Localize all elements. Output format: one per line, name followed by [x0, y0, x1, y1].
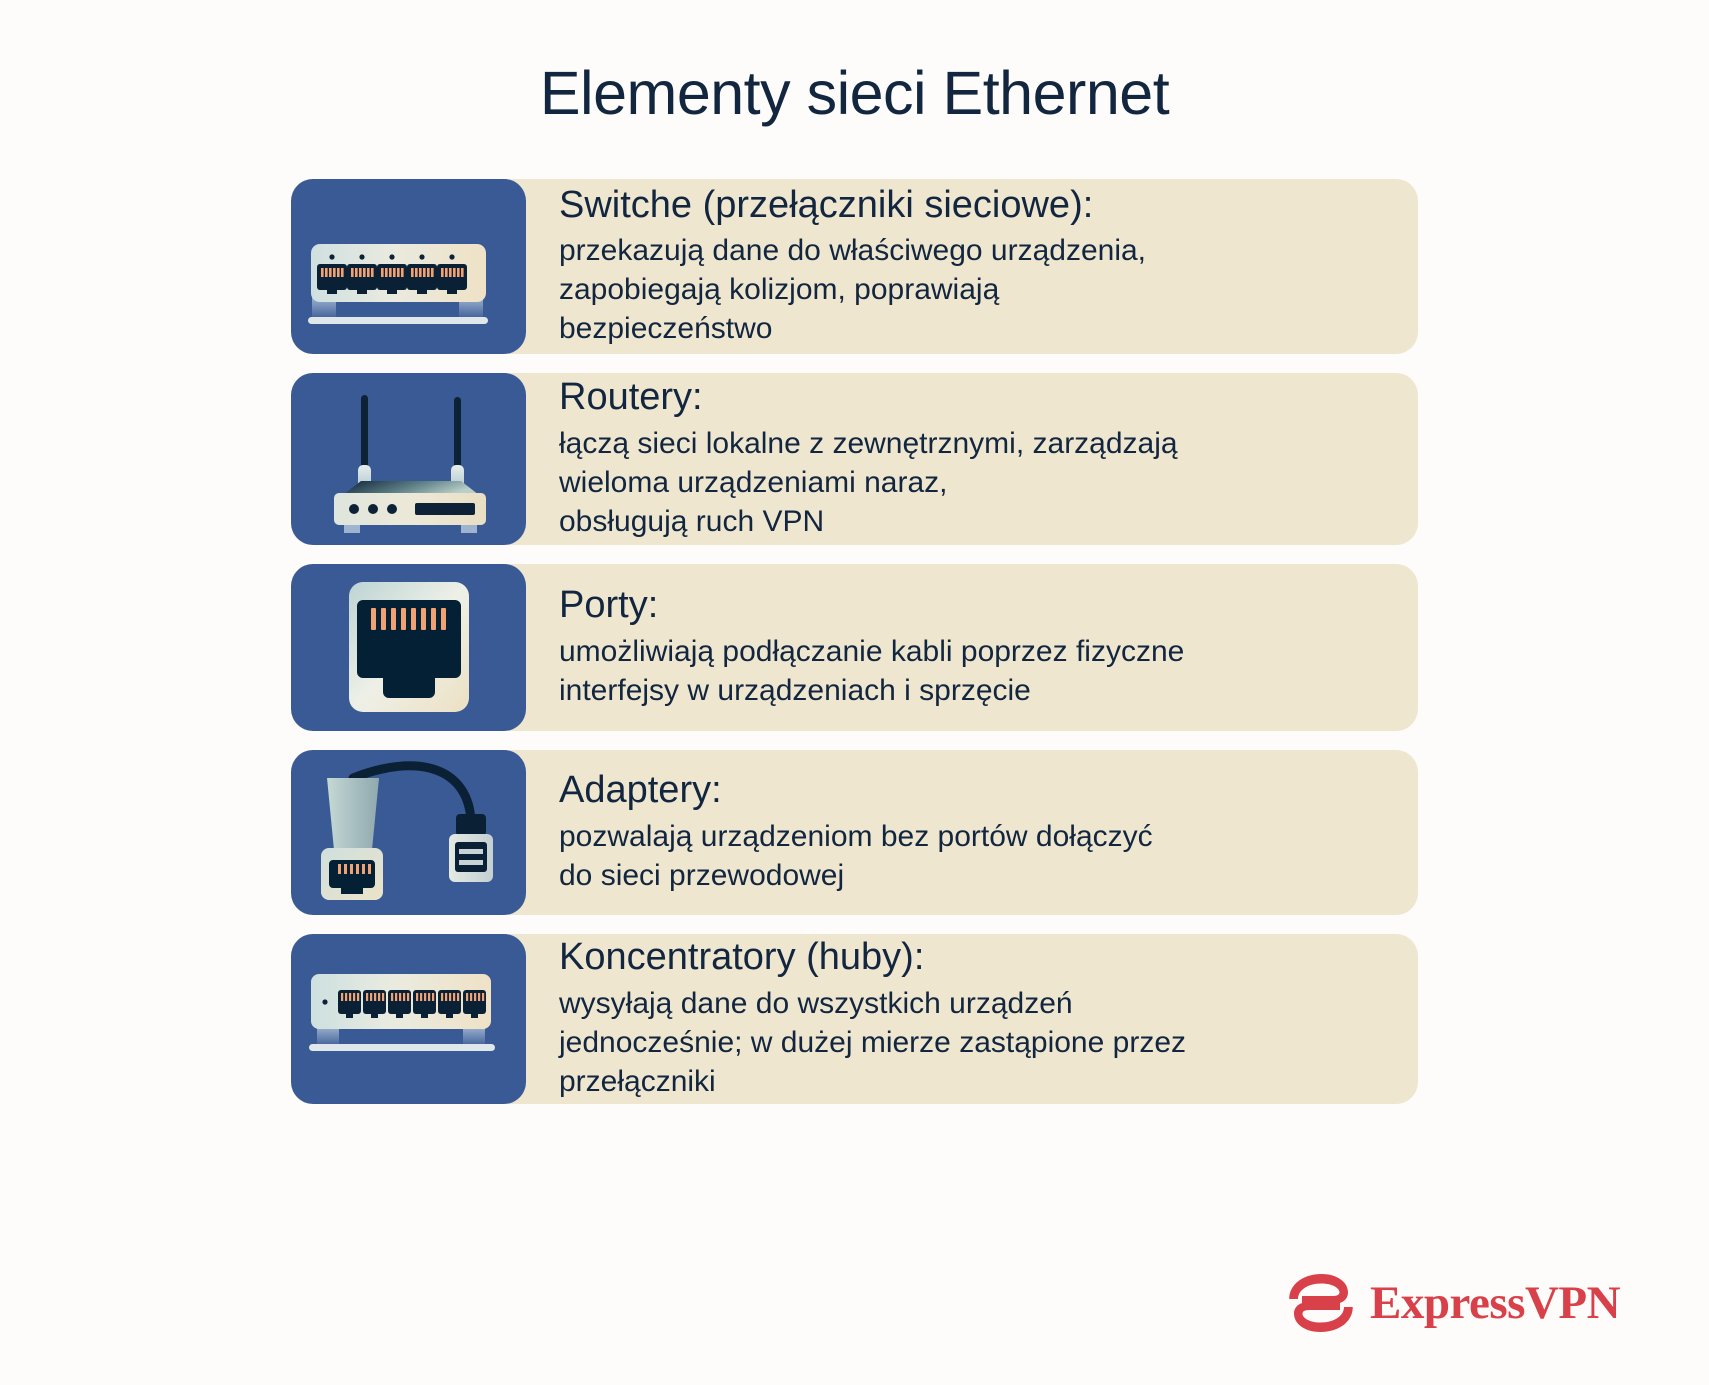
item-body: umożliwiają podłączanie kabli poprzez fi…	[559, 632, 1392, 710]
wifi-router-icon	[291, 373, 526, 545]
item-body: wysyłają dane do wszystkich urządzeń jed…	[559, 984, 1392, 1101]
usb-ethernet-adapter-icon	[291, 750, 526, 915]
item-body: przekazują dane do właściwego urządzenia…	[559, 231, 1392, 348]
wifi-router-panel: Routery: łączą sieci lokalne z zewnętrzn…	[502, 373, 1418, 545]
usb-ethernet-adapter-tile	[291, 750, 526, 915]
item-body: pozwalają urządzeniom bez portów dołączy…	[559, 817, 1392, 895]
infographic-page: Elementy sieci Ethernet	[0, 0, 1709, 1385]
ethernet-switch-icon	[291, 179, 526, 354]
list-item: Adaptery: pozwalają urządzeniom bez port…	[291, 750, 1418, 915]
rj45-port-tile	[291, 564, 526, 731]
ethernet-hub-tile	[291, 934, 526, 1104]
list-item: Koncentratory (huby): wysyłają dane do w…	[291, 934, 1418, 1104]
item-title: Porty:	[559, 583, 1392, 628]
usb-ethernet-adapter-panel: Adaptery: pozwalają urządzeniom bez port…	[502, 750, 1418, 915]
item-body: łączą sieci lokalne z zewnętrznymi, zarz…	[559, 424, 1392, 541]
page-title: Elementy sieci Ethernet	[0, 58, 1709, 128]
ethernet-switch-tile	[291, 179, 526, 354]
switch-ports	[317, 264, 467, 294]
list-item: Switche (przełączniki sieciowe): przekaz…	[291, 179, 1418, 354]
item-title: Koncentratory (huby):	[559, 935, 1392, 980]
item-title: Routery:	[559, 375, 1392, 420]
wifi-router-tile	[291, 373, 526, 545]
list-item: Routery: łączą sieci lokalne z zewnętrzn…	[291, 373, 1418, 545]
expressvpn-logo: ExpressVPN	[1288, 1272, 1620, 1334]
list-item: Porty: umożliwiają podłączanie kabli pop…	[291, 564, 1418, 731]
ethernet-hub-icon	[291, 934, 526, 1104]
expressvpn-e-mark-icon	[1288, 1272, 1354, 1334]
rj45-port-icon	[291, 564, 526, 731]
elements-list: Switche (przełączniki sieciowe): przekaz…	[291, 179, 1418, 1123]
item-title: Adaptery:	[559, 768, 1392, 813]
ethernet-hub-panel: Koncentratory (huby): wysyłają dane do w…	[502, 934, 1418, 1104]
expressvpn-logo-text: ExpressVPN	[1370, 1280, 1620, 1327]
rj45-port-panel: Porty: umożliwiają podłączanie kabli pop…	[502, 564, 1418, 731]
ethernet-switch-panel: Switche (przełączniki sieciowe): przekaz…	[502, 179, 1418, 354]
item-title: Switche (przełączniki sieciowe):	[559, 183, 1392, 228]
